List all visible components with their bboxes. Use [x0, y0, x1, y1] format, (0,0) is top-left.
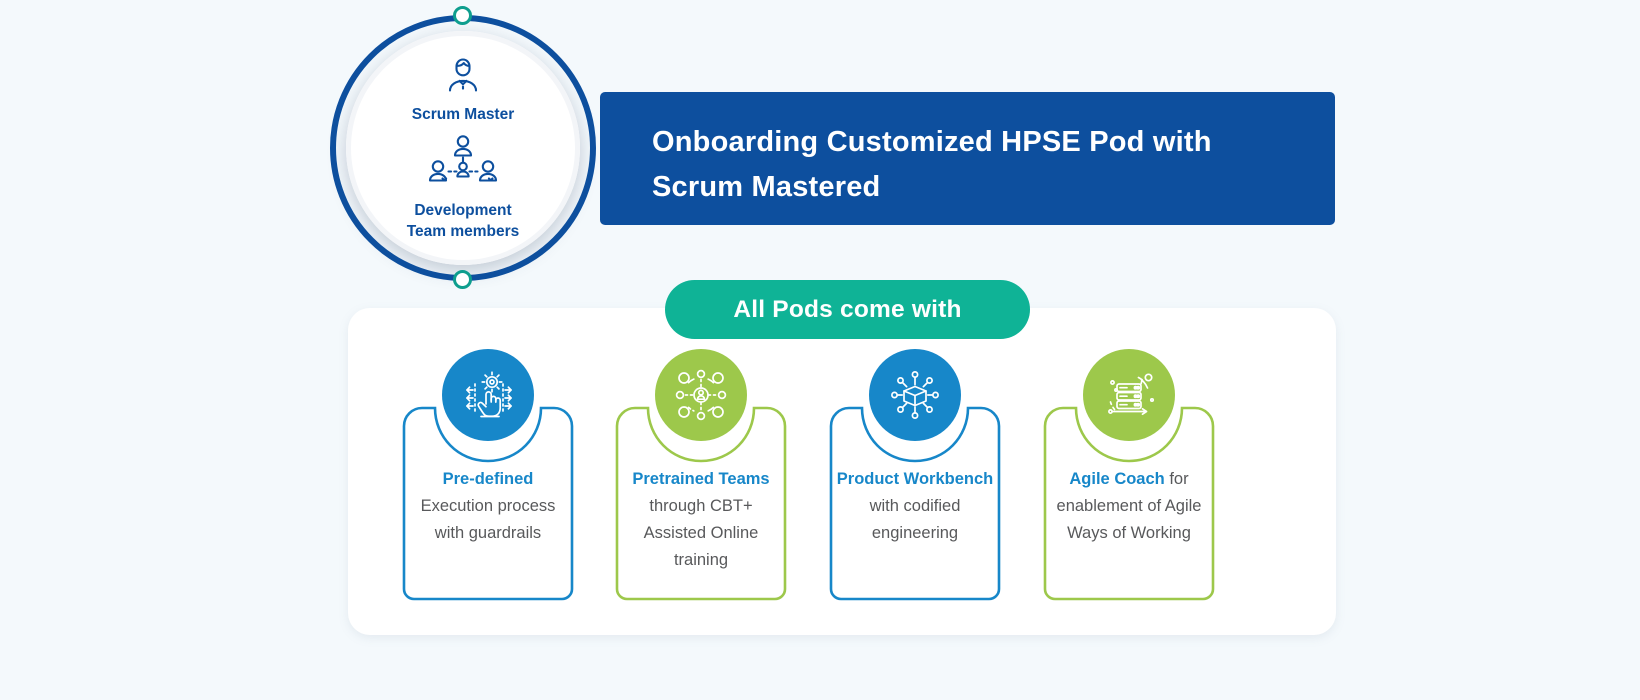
scrum-master-person-icon [441, 55, 485, 102]
all-pods-pill: All Pods come with [665, 280, 1030, 339]
pod-role-label: Scrum Master [412, 104, 515, 125]
card-rest: with codified engineering [870, 497, 961, 542]
feature-card[interactable]: Pre-defined Execution process with guard… [402, 406, 574, 601]
card-highlight: Pretrained Teams [632, 470, 769, 488]
server-refresh-icon [1083, 349, 1175, 441]
ring-node-top-icon [453, 6, 472, 25]
card-text: Agile Coach for enablement of Agile Ways… [1043, 466, 1215, 547]
infographic-stage: Onboarding Customized HPSE Pod with Scru… [0, 0, 1640, 700]
network-people-nodes-icon [655, 349, 747, 441]
ring-node-bottom-icon [453, 270, 472, 289]
card-rest: Execution process with guardrails [421, 497, 556, 542]
card-text: Product Workbench with codified engineer… [829, 466, 1001, 547]
banner-title: Onboarding Customized HPSE Pod with Scru… [652, 120, 1272, 210]
pod-team-label: Development Team members [407, 200, 520, 242]
card-rest: through CBT+ Assisted Online training [644, 497, 759, 569]
feature-card[interactable]: Agile Coach for enablement of Agile Ways… [1043, 406, 1215, 601]
development-team-group-icon [424, 133, 502, 194]
cube-network-icon [869, 349, 961, 441]
all-pods-pill-label: All Pods come with [733, 296, 961, 324]
banner: Onboarding Customized HPSE Pod with Scru… [600, 92, 1335, 225]
card-text: Pretrained Teams through CBT+ Assisted O… [615, 466, 787, 574]
pod-circle: Scrum Master [330, 15, 596, 281]
card-highlight: Pre-defined [443, 470, 534, 488]
card-highlight: Agile Coach [1069, 470, 1164, 488]
gear-hand-process-icon [442, 349, 534, 441]
pod-content: Scrum Master [354, 39, 572, 257]
card-highlight: Product Workbench [837, 470, 993, 488]
feature-card[interactable]: Product Workbench with codified engineer… [829, 406, 1001, 601]
feature-cards: Pre-defined Execution process with guard… [348, 308, 1336, 635]
feature-card[interactable]: Pretrained Teams through CBT+ Assisted O… [615, 406, 787, 601]
card-text: Pre-defined Execution process with guard… [402, 466, 574, 547]
